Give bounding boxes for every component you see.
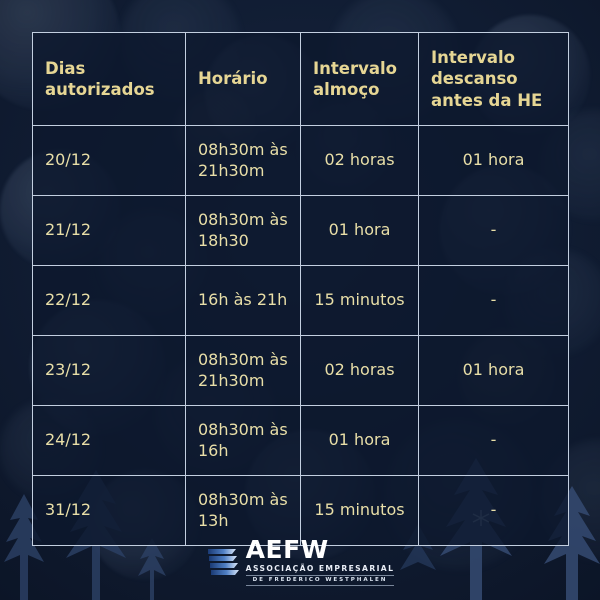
aefw-logo: AEFW ASSOCIAÇÃO EMPRESARIAL DE FREDERICO… — [0, 537, 600, 586]
cell-dia: 22/12 — [33, 266, 186, 336]
authorized-days-schedule-table: Dias autorizados Horário Intervalo almoç… — [32, 32, 569, 546]
table-row: 22/12 16h às 21h 15 minutos - — [33, 266, 569, 336]
cell-horario: 16h às 21h — [186, 266, 301, 336]
table-header-row: Dias autorizados Horário Intervalo almoç… — [33, 33, 569, 126]
table-body: 20/12 08h30m às 21h30m 02 horas 01 hora … — [33, 126, 569, 546]
cell-almoco: 15 minutos — [301, 266, 419, 336]
cell-almoco: 02 horas — [301, 336, 419, 406]
cell-descanso: - — [419, 476, 569, 546]
cell-descanso: 01 hora — [419, 336, 569, 406]
table-row: 24/12 08h30m às 16h 01 hora - — [33, 406, 569, 476]
cell-dia: 23/12 — [33, 336, 186, 406]
cell-almoco: 01 hora — [301, 406, 419, 476]
cell-horario: 08h30m às 16h — [186, 406, 301, 476]
column-header-intervalo-descanso-antes-da-he: Intervalo descanso antes da HE — [419, 33, 569, 126]
logo-bars-icon — [206, 546, 240, 576]
table-row: 21/12 08h30m às 18h30 01 hora - — [33, 196, 569, 266]
cell-horario: 08h30m às 21h30m — [186, 336, 301, 406]
column-header-intervalo-almoco: Intervalo almoço — [301, 33, 419, 126]
table-header: Dias autorizados Horário Intervalo almoç… — [33, 33, 569, 126]
cell-dia: 24/12 — [33, 406, 186, 476]
cell-dia: 20/12 — [33, 126, 186, 196]
cell-descanso: 01 hora — [419, 126, 569, 196]
logo-acronym: AEFW — [246, 537, 329, 562]
cell-almoco: 02 horas — [301, 126, 419, 196]
cell-horario: 08h30m às 21h30m — [186, 126, 301, 196]
cell-descanso: - — [419, 406, 569, 476]
cell-descanso: - — [419, 196, 569, 266]
cell-dia: 21/12 — [33, 196, 186, 266]
cell-horario: 08h30m às 18h30 — [186, 196, 301, 266]
cell-almoco: 01 hora — [301, 196, 419, 266]
cell-dia: 31/12 — [33, 476, 186, 546]
table-row: 20/12 08h30m às 21h30m 02 horas 01 hora — [33, 126, 569, 196]
column-header-dias-autorizados: Dias autorizados — [33, 33, 186, 126]
table-row: 23/12 08h30m às 21h30m 02 horas 01 hora — [33, 336, 569, 406]
logo-subtitle: ASSOCIAÇÃO EMPRESARIAL — [246, 565, 395, 573]
cell-descanso: - — [419, 266, 569, 336]
logo-location: DE FREDERICO WESTPHALEN — [246, 575, 395, 586]
column-header-horario: Horário — [186, 33, 301, 126]
